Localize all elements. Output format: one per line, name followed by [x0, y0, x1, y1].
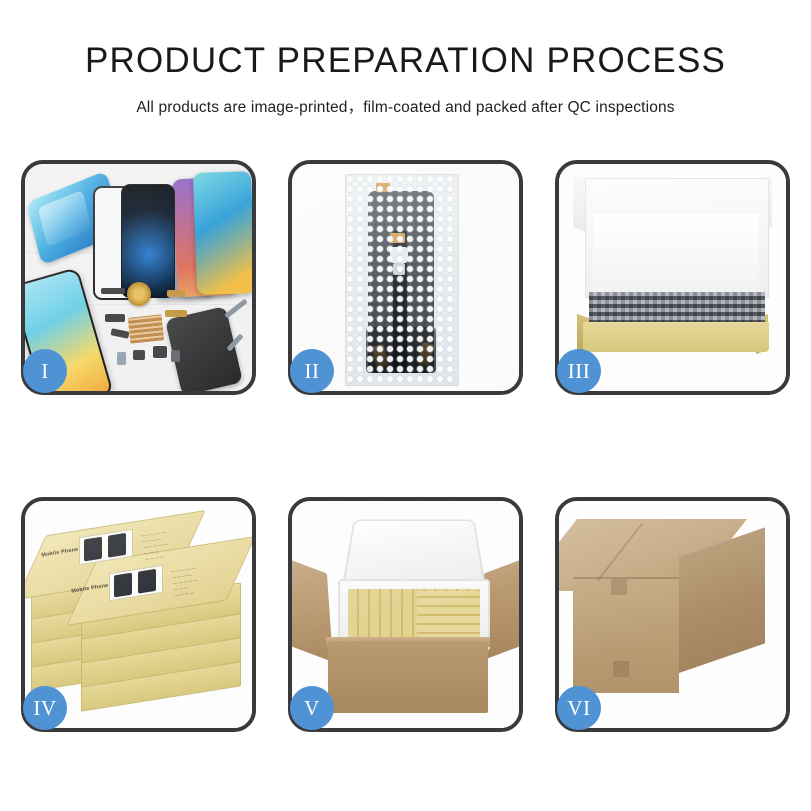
- foam-sheet-graphic: [593, 214, 759, 296]
- chip-array-graphic: [128, 314, 165, 343]
- step-badge-6: VI: [557, 686, 601, 730]
- process-step-1: I: [21, 160, 256, 395]
- process-step-6: VI: [555, 497, 790, 732]
- step-badge-2: II: [290, 349, 334, 393]
- step-badge-1: I: [23, 349, 67, 393]
- step-badge-5: V: [290, 686, 334, 730]
- packed-yellow-boxes-graphic: [417, 591, 480, 641]
- retail-box-stack-graphic: Mobile Phone Spare Parts Mobile Phone Sp…: [31, 517, 247, 711]
- coil-part-graphic: [127, 282, 151, 306]
- page-title: PRODUCT PREPARATION PROCESS: [0, 42, 811, 81]
- bubble-wrap-fill-graphic: [589, 292, 765, 324]
- process-step-2: II: [288, 160, 523, 395]
- process-step-5: V: [288, 497, 523, 732]
- cracked-screen-graphic: [121, 184, 175, 298]
- page-subtitle: All products are image-printed，film-coat…: [0, 95, 811, 117]
- yellow-box-tray-graphic: [583, 322, 769, 352]
- phone-graphic: [193, 171, 252, 295]
- step-badge-4: IV: [23, 686, 67, 730]
- process-step-3: III: [555, 160, 790, 395]
- step-badge-3: III: [557, 349, 601, 393]
- process-step-grid: I II: [21, 160, 790, 732]
- carton-body-graphic: [328, 641, 488, 713]
- bubble-wrap-bag-graphic: [345, 174, 459, 386]
- page-header: PRODUCT PREPARATION PROCESS All products…: [0, 0, 811, 117]
- process-step-4: Mobile Phone Spare Parts Mobile Phone Sp…: [21, 497, 256, 732]
